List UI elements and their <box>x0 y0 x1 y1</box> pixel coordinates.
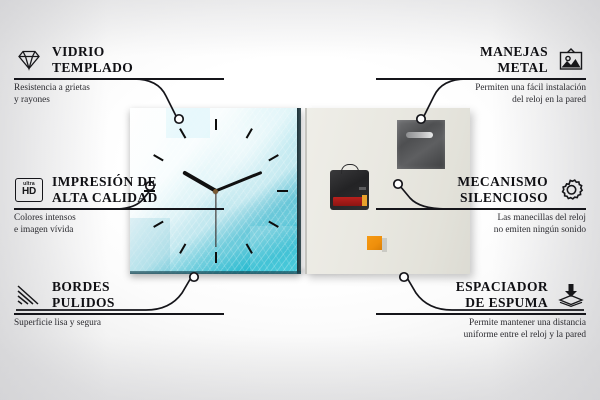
feature-vidrio-templado: VIDRIO TEMPLADO Resistencia a grietas y … <box>14 44 224 107</box>
ultra-hd-icon: ultra HD <box>14 176 44 204</box>
picture-hanger-icon <box>556 46 586 74</box>
hour-tick <box>179 243 186 254</box>
feature-subtitle: Permite mantener una distancia uniforme … <box>376 318 586 342</box>
feature-rule <box>376 208 586 210</box>
feature-rule <box>376 78 586 80</box>
feature-header: ultra HD IMPRESIÓN DE ALTA CALIDAD <box>14 174 224 208</box>
hour-tick <box>268 154 279 161</box>
feature-title: IMPRESIÓN DE ALTA CALIDAD <box>52 174 158 205</box>
polished-edges-icon <box>14 281 44 309</box>
feature-espaciador-espuma: ESPACIADOR DE ESPUMA Permite mantener un… <box>376 279 586 342</box>
foam-spacer <box>367 236 382 250</box>
feature-title: ESPACIADOR DE ESPUMA <box>456 279 548 310</box>
feature-impresion-alta-calidad: ultra HD IMPRESIÓN DE ALTA CALIDAD Color… <box>14 174 224 237</box>
quartz-clock-mechanism <box>330 170 369 210</box>
feature-rule <box>14 208 224 210</box>
hour-tick <box>215 119 217 130</box>
feature-subtitle: Superficie lisa y segura <box>14 318 224 330</box>
hour-tick <box>179 128 186 139</box>
feature-header: BORDES PULIDOS <box>14 279 224 313</box>
ultra-hd-icon-large-text: HD <box>22 187 36 197</box>
mechanism-detail <box>359 187 366 190</box>
feature-rule <box>376 313 586 315</box>
feature-subtitle: Resistencia a grietas y rayones <box>14 83 224 107</box>
hour-tick <box>245 128 252 139</box>
feature-title: MANEJAS METAL <box>480 44 548 75</box>
hour-tick <box>245 243 252 254</box>
feature-bordes-pulidos: BORDES PULIDOS Superficie lisa y segura <box>14 279 224 330</box>
mechanism-loop <box>341 164 359 174</box>
gear-icon <box>556 176 586 204</box>
feature-rule <box>14 313 224 315</box>
feature-rule <box>14 78 224 80</box>
feature-header: ESPACIADOR DE ESPUMA <box>376 279 586 313</box>
hour-tick <box>215 252 217 263</box>
feature-title: BORDES PULIDOS <box>52 279 115 310</box>
feature-mecanismo-silencioso: MECANISMO SILENCIOSO Las manecillas del … <box>376 174 586 237</box>
foam-spacer-icon <box>556 281 586 309</box>
back-panel-left-edge <box>305 108 307 274</box>
feature-manejas-metal: MANEJAS METAL Permiten una fácil instala… <box>376 44 586 107</box>
feature-header: MECANISMO SILENCIOSO <box>376 174 586 208</box>
feature-header: VIDRIO TEMPLADO <box>14 44 224 78</box>
diamond-icon <box>14 46 44 74</box>
hour-tick <box>153 154 164 161</box>
feature-subtitle: Colores intensos e imagen vívida <box>14 213 224 237</box>
hanger-slot <box>406 132 433 138</box>
feature-title: MECANISMO SILENCIOSO <box>457 174 548 205</box>
feature-subtitle: Permiten una fácil instalación del reloj… <box>376 83 586 107</box>
feature-header: MANEJAS METAL <box>376 44 586 78</box>
metal-hanger-plate <box>397 120 445 169</box>
hour-tick <box>277 190 288 192</box>
battery <box>333 197 366 206</box>
hour-tick <box>268 221 279 228</box>
infographic-canvas: VIDRIO TEMPLADO Resistencia a grietas y … <box>0 0 600 400</box>
feature-subtitle: Las manecillas del reloj no emiten ningú… <box>376 213 586 237</box>
feature-title: VIDRIO TEMPLADO <box>52 44 133 75</box>
